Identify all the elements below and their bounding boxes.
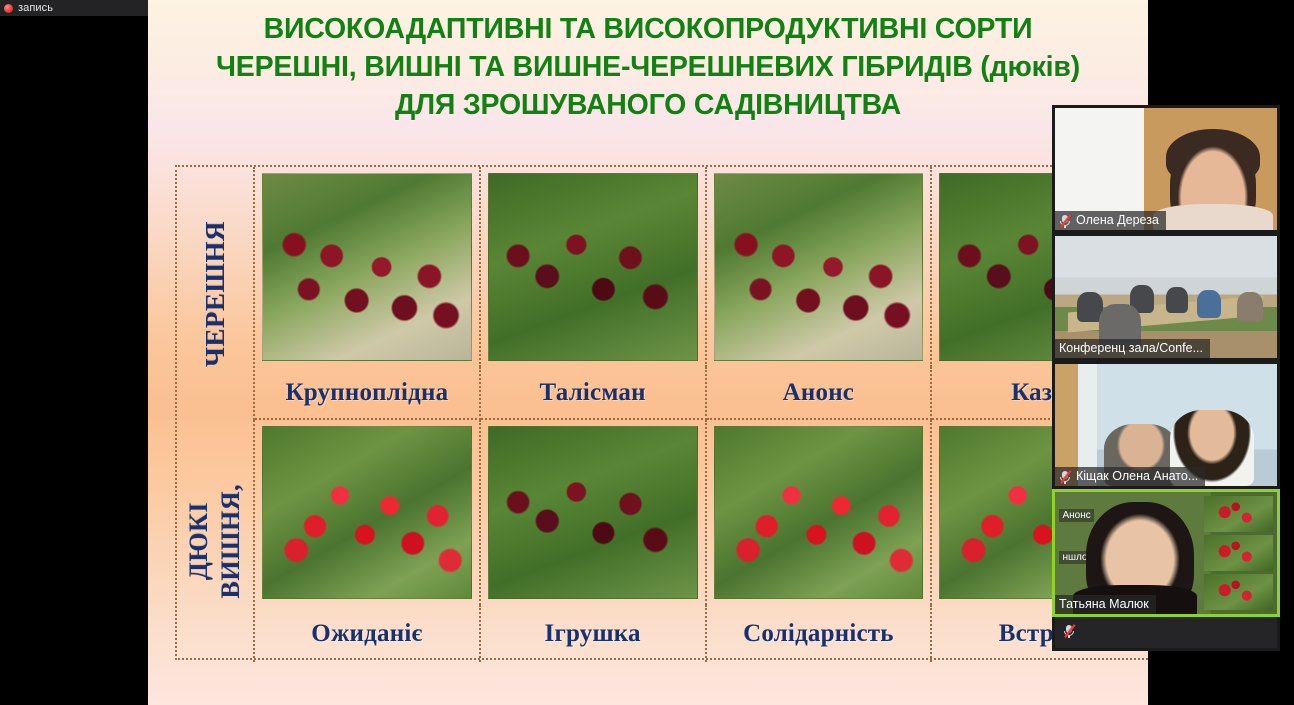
cherry-photo [488,426,698,599]
variety-name: Ігрушка [481,605,707,662]
video-tile-participant[interactable]: Кіщак Олена Анато... [1052,361,1280,489]
variety-name: Солідарність [707,605,933,662]
mic-muted-icon [1059,470,1071,484]
row-label-cherry: ЧЕРЕШНЯ [177,167,255,420]
screen-root: запись ВИСОКОАДАПТИВНІ ТА ВИСОКОПРОДУКТИ… [0,0,1294,705]
table-cell-photo [481,420,707,605]
varieties-table: ЧЕРЕШНЯ Крупноплідна Талісман Анонс Казк… [175,165,1148,660]
participant-nameplate: Олена Дереза [1055,211,1166,230]
video-filmstrip: Олена Дереза Конференц зала/Confe... [1052,105,1280,651]
participant-nameplate: Татьяна Малюк [1055,595,1156,614]
cherry-photo [488,173,698,361]
variety-name: Крупноплідна [255,367,481,420]
participant-name: Кіщак Олена Анато... [1076,469,1198,484]
variety-name: Ожиданіє [255,605,481,662]
recording-indicator: запись [0,0,148,16]
cherry-photo [714,173,924,361]
video-person [1166,287,1188,313]
participant-nameplate: Кіщак Олена Анато... [1055,467,1205,486]
cherry-photo [262,173,472,361]
video-person [1237,292,1263,322]
video-background-slide [1204,496,1273,611]
cherry-photo [262,426,472,599]
participant-name: Олена Дереза [1076,213,1159,228]
recording-label: запись [18,2,53,14]
participant-nameplate: Конференц зала/Confe... [1055,339,1210,358]
participant-name: Татьяна Малюк [1059,597,1149,612]
table-cell-photo [707,420,933,605]
mic-muted-icon [1063,624,1075,638]
variety-name: Анонс [707,367,933,420]
video-person-body [1153,204,1273,230]
video-tile-participant[interactable]: Конференц зала/Confe... [1052,233,1280,361]
record-dot-icon [4,4,13,13]
row-label-sour-cherry-line2: ДЮКІ [184,502,214,580]
slide-title: ВИСОКОАДАПТИВНІ ТА ВИСОКОПРОДУКТИВНІ СОР… [166,10,1130,124]
video-person [1197,290,1221,318]
participant-name: Конференц зала/Confe... [1059,341,1203,356]
row-label-cherry-text: ЧЕРЕШНЯ [200,221,230,367]
table-cell-photo [255,167,481,367]
variety-name: Талісман [481,367,707,420]
row-label-sour-cherry: ВИШНЯ, ДЮКІ [177,420,255,662]
video-tile-participant[interactable]: Олена Дереза [1052,105,1280,233]
presentation-slide: ВИСОКОАДАПТИВНІ ТА ВИСОКОПРОДУКТИВНІ СОР… [148,0,1148,705]
video-tile-active-speaker[interactable]: Анонс ншлог Татьяна Малюк [1052,489,1280,617]
video-tile-partial[interactable] [1052,617,1280,651]
cherry-photo [714,426,924,599]
row-label-sour-cherry-line1: ВИШНЯ, [216,484,246,599]
video-slide-label-top: Анонс [1059,509,1093,522]
table-cell-photo [481,167,707,367]
table-cell-photo [255,420,481,605]
mic-muted-icon [1059,214,1071,228]
table-cell-photo [707,167,933,367]
